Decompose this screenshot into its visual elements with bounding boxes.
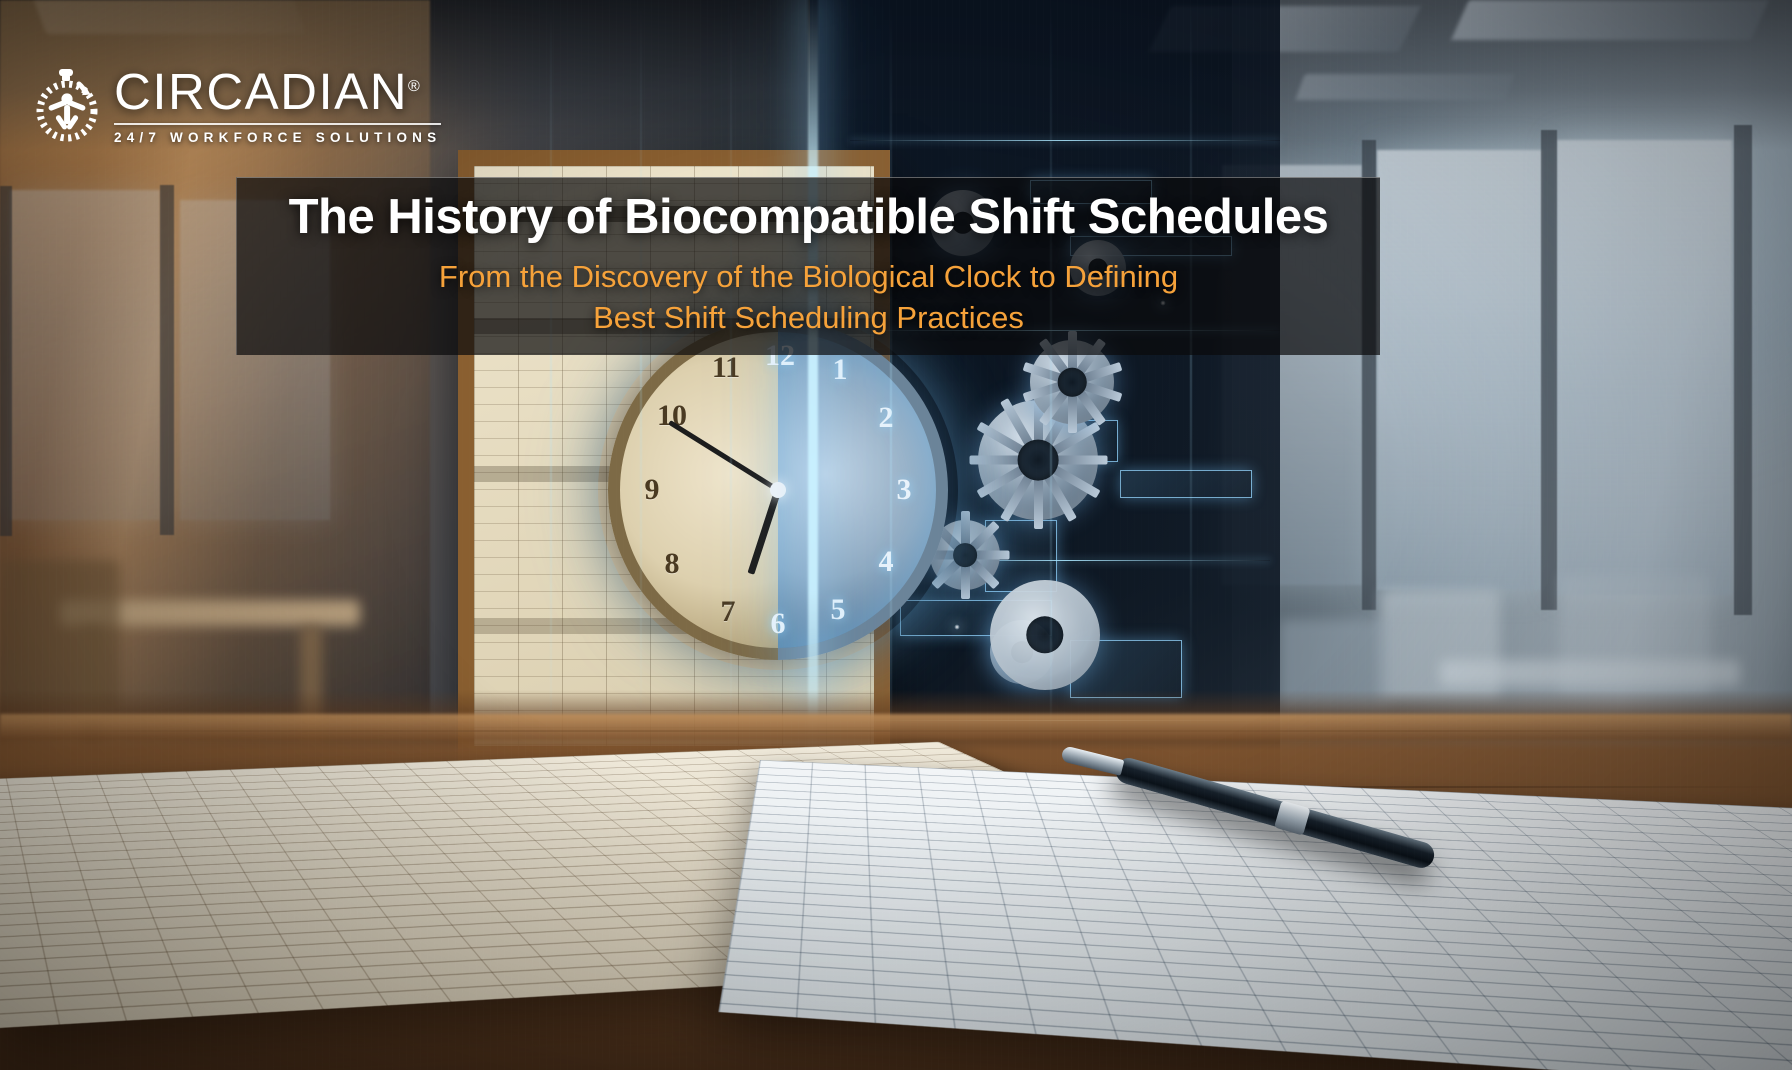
window-mullion [1734,125,1752,615]
clock-numeral-6: 6 [755,607,801,641]
right-window [1557,140,1732,595]
hud-spark [954,624,960,630]
logo-tagline: 24/7 WORKFORCE SOLUTIONS [114,130,441,145]
stopwatch-person-icon [34,68,100,142]
banner-subtitle: From the Discovery of the Biological Clo… [257,256,1360,338]
clock-numeral-2: 2 [863,401,909,435]
hud-scan-line [850,140,1280,141]
clock-numeral-5: 5 [815,593,861,627]
light-beam [730,0,732,800]
window-mullion [0,186,12,536]
title-overlay-box: The History of Biocompatible Shift Sched… [236,177,1380,355]
banner-subtitle-line-1: From the Discovery of the Biological Clo… [257,256,1360,297]
desk-front-edge [0,714,1792,740]
clock-numeral-10: 10 [649,399,695,433]
window-mullion [1541,130,1557,610]
counter-blob [1440,660,1740,686]
logo-wordmark: CIRCADIAN® 24/7 WORKFORCE SOLUTIONS [114,66,441,145]
banner-image: 11 10 9 8 7 12 1 2 3 4 5 6 [0,0,1792,1070]
split-clock: 11 10 9 8 7 12 1 2 3 4 5 6 [608,320,948,660]
clock-numeral-8: 8 [649,547,695,581]
clock-numeral-1: 1 [817,353,863,387]
clock-numeral-9: 9 [629,473,675,507]
banner-title: The History of Biocompatible Shift Sched… [257,192,1360,244]
registered-mark: ® [408,78,420,95]
chair-blob [0,560,120,710]
clock-numeral-4: 4 [863,545,909,579]
window-mullion [160,185,174,535]
secondary-dial [990,580,1100,690]
hud-panel [1120,470,1252,498]
left-window [10,190,160,520]
background-scene: 11 10 9 8 7 12 1 2 3 4 5 6 [0,0,1792,1070]
clock-numeral-3: 3 [881,473,927,507]
circadian-logo[interactable]: CIRCADIAN® 24/7 WORKFORCE SOLUTIONS [34,66,441,145]
banner-subtitle-line-2: Best Shift Scheduling Practices [257,297,1360,338]
light-beam [640,0,642,760]
clock-center-pin [770,482,786,498]
logo-name: CIRCADIAN® [114,66,441,117]
clock-numeral-7: 7 [705,595,751,629]
logo-divider [114,123,441,125]
clock-numeral-11: 11 [703,351,749,385]
logo-name-text: CIRCADIAN [114,63,408,120]
right-window [1377,150,1542,590]
